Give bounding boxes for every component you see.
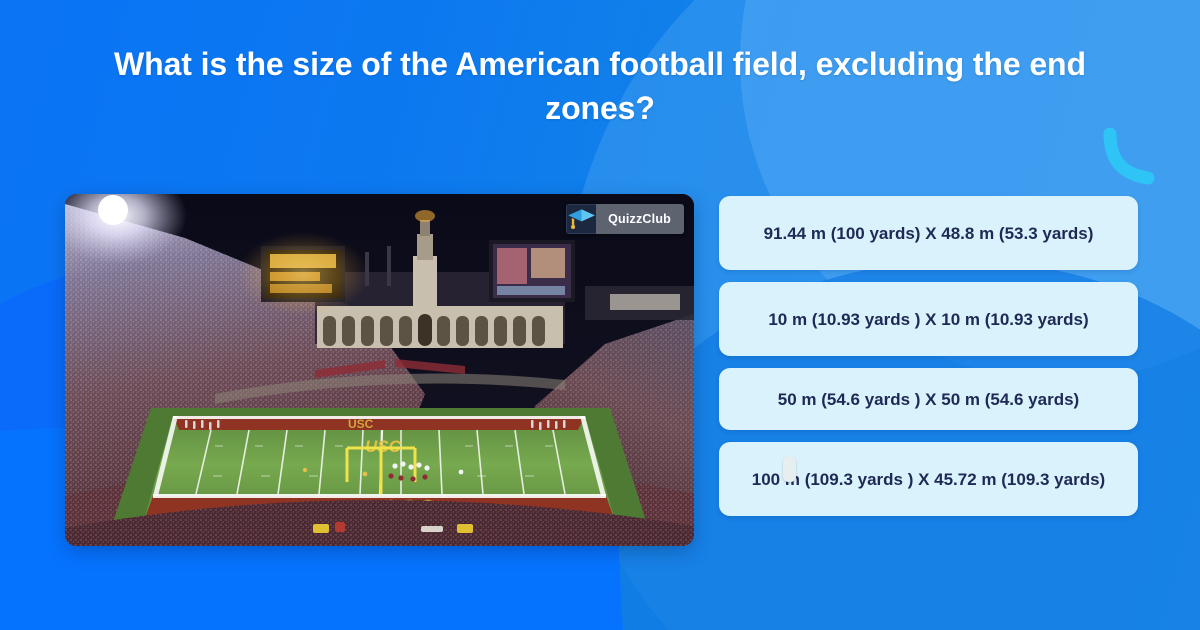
answer-option-3-label: 50 m (54.6 yards ) X 50 m (54.6 yards): [778, 387, 1079, 412]
question-title: What is the size of the American footbal…: [60, 42, 1140, 130]
quiz-card: What is the size of the American footbal…: [0, 0, 1200, 630]
answer-option-4-label: 100 m (109.3 yards ) X 45.72 m (109.3 ya…: [752, 467, 1105, 492]
answer-option-1[interactable]: 91.44 m (100 yards) X 48.8 m (53.3 yards…: [719, 196, 1138, 270]
cyan-arc-accent-icon: [1102, 128, 1162, 188]
svg-text:USC: USC: [348, 417, 374, 431]
brand-watermark: QuizzClub: [566, 204, 684, 234]
graduation-cap-icon: [566, 204, 596, 234]
answer-option-4[interactable]: 100 m (109.3 yards ) X 45.72 m (109.3 ya…: [719, 442, 1138, 516]
stadium-photo: USC USC USC: [65, 194, 694, 546]
answer-option-1-label: 91.44 m (100 yards) X 48.8 m (53.3 yards…: [764, 221, 1094, 246]
stadium-illustration: USC USC USC: [65, 194, 694, 546]
answer-options-list: 91.44 m (100 yards) X 48.8 m (53.3 yards…: [719, 196, 1138, 528]
pointer-cursor-marker: [783, 456, 796, 482]
answer-option-2[interactable]: 10 m (10.93 yards ) X 10 m (10.93 yards): [719, 282, 1138, 356]
answer-option-2-label: 10 m (10.93 yards ) X 10 m (10.93 yards): [768, 307, 1088, 332]
answer-option-3[interactable]: 50 m (54.6 yards ) X 50 m (54.6 yards): [719, 368, 1138, 430]
brand-name: QuizzClub: [596, 204, 684, 234]
